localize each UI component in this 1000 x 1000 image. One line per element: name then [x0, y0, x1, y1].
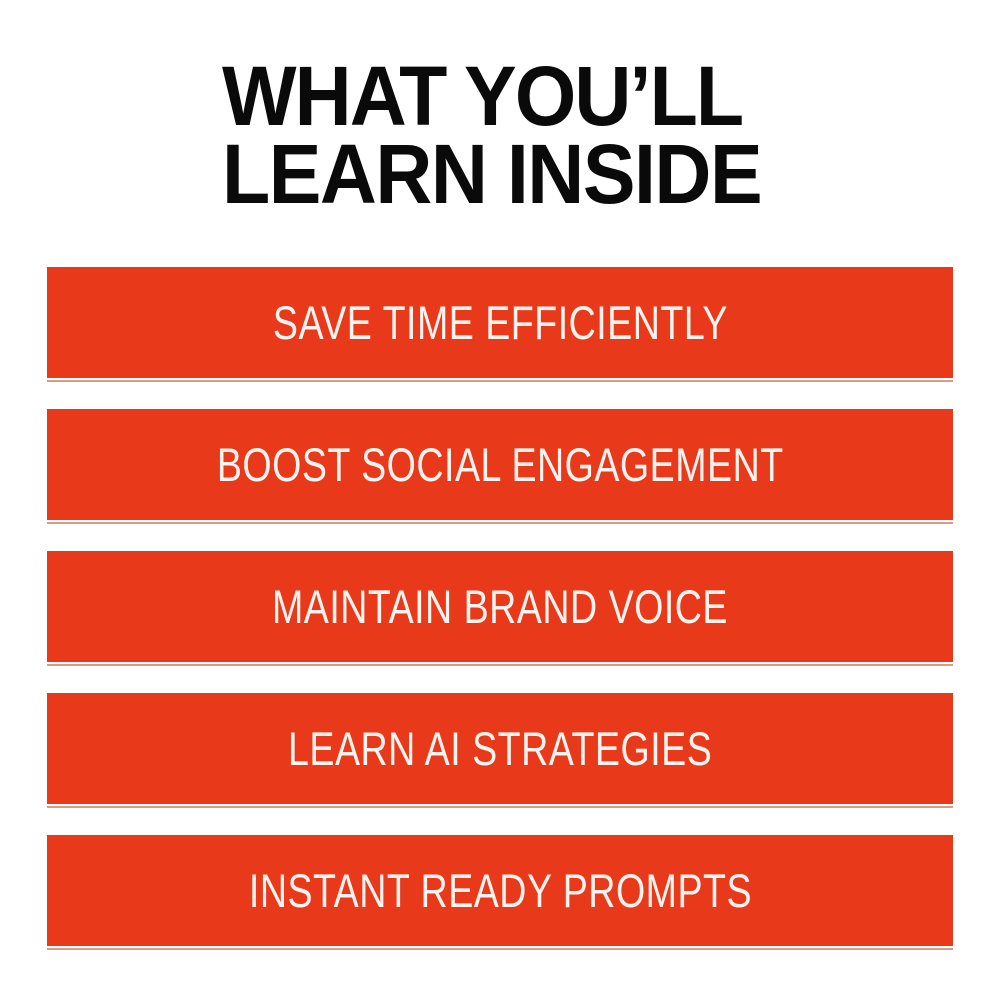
benefit-bar-5-label: INSTANT READY PROMPTS: [248, 867, 751, 914]
benefit-bar-5[interactable]: INSTANT READY PROMPTS: [47, 835, 953, 946]
benefit-bar-3[interactable]: MAINTAIN BRAND VOICE: [47, 551, 953, 662]
benefit-bar-1-label: SAVE TIME EFFICIENTLY: [272, 299, 727, 346]
page-title: WHAT YOU’LL LEARN INSIDE: [222, 57, 862, 213]
benefit-bar-1[interactable]: SAVE TIME EFFICIENTLY: [47, 267, 953, 378]
benefit-bar-4[interactable]: LEARN AI STRATEGIES: [47, 693, 953, 804]
benefit-bar-2-label: BOOST SOCIAL ENGAGEMENT: [217, 441, 784, 488]
poster-canvas: WHAT YOU’LL LEARN INSIDE SAVE TIME EFFIC…: [0, 0, 1000, 1000]
page-title-line-2: LEARN INSIDE: [222, 135, 824, 213]
benefit-bar-3-label: MAINTAIN BRAND VOICE: [272, 583, 728, 630]
benefit-bar-list: SAVE TIME EFFICIENTLY BOOST SOCIAL ENGAG…: [47, 267, 953, 946]
benefit-bar-2[interactable]: BOOST SOCIAL ENGAGEMENT: [47, 409, 953, 520]
page-title-line-1: WHAT YOU’LL: [222, 57, 824, 135]
benefit-bar-4-label: LEARN AI STRATEGIES: [288, 725, 712, 772]
